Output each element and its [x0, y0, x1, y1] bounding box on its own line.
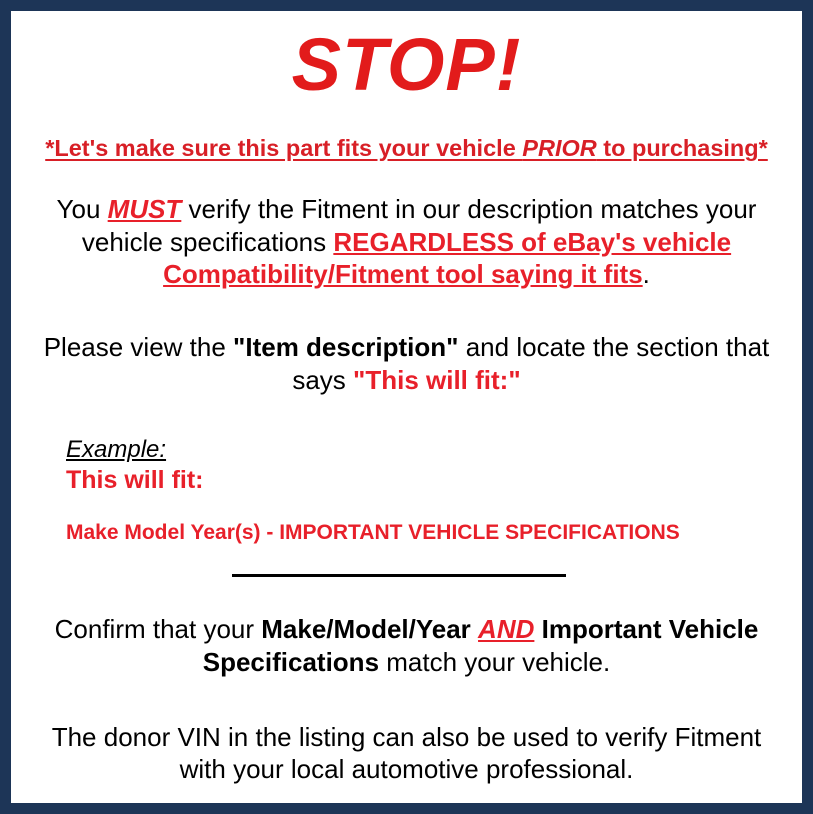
subtitle-prior-emphasis: PRIOR: [522, 135, 596, 161]
item-description-emphasis: "Item description": [233, 332, 458, 362]
confirm-paragraph-lead: Confirm that your: [55, 614, 262, 644]
and-emphasis: AND: [478, 614, 534, 644]
make-model-year-emphasis: Make/Model/Year: [261, 614, 471, 644]
fitment-notice-frame: STOP! *Let's make sure this part fits yo…: [0, 0, 813, 814]
notice-body: STOP! *Let's make sure this part fits yo…: [11, 28, 802, 814]
example-block: Example: This will fit: Make Model Year(…: [20, 437, 793, 546]
view-paragraph-lead: Please view the: [44, 332, 233, 362]
subtitle-lead: *Let's make sure this part fits your veh…: [45, 135, 522, 161]
example-fit-heading: This will fit:: [66, 465, 793, 495]
donor-vin-paragraph: The donor VIN in the listing can also be…: [20, 721, 793, 787]
example-spec-line: Make Model Year(s) - IMPORTANT VEHICLE S…: [66, 520, 793, 545]
confirm-paragraph: Confirm that your Make/Model/Year AND Im…: [20, 613, 793, 679]
must-verify-paragraph: You MUST verify the Fitment in our descr…: [20, 193, 793, 291]
subtitle-banner: *Let's make sure this part fits your veh…: [20, 136, 793, 162]
example-label: Example:: [66, 437, 793, 463]
subtitle-tail: to purchasing*: [597, 135, 768, 161]
confirm-paragraph-tail: match your vehicle.: [379, 647, 610, 677]
stop-headline: STOP!: [20, 28, 793, 102]
must-paragraph-tail: .: [643, 259, 650, 289]
must-paragraph-lead: You: [57, 194, 108, 224]
view-description-paragraph: Please view the "Item description" and l…: [20, 331, 793, 397]
this-will-fit-emphasis: "This will fit:": [353, 365, 521, 395]
section-divider: [232, 574, 566, 577]
divider-wrap: [20, 574, 793, 578]
must-emphasis: MUST: [108, 194, 182, 224]
